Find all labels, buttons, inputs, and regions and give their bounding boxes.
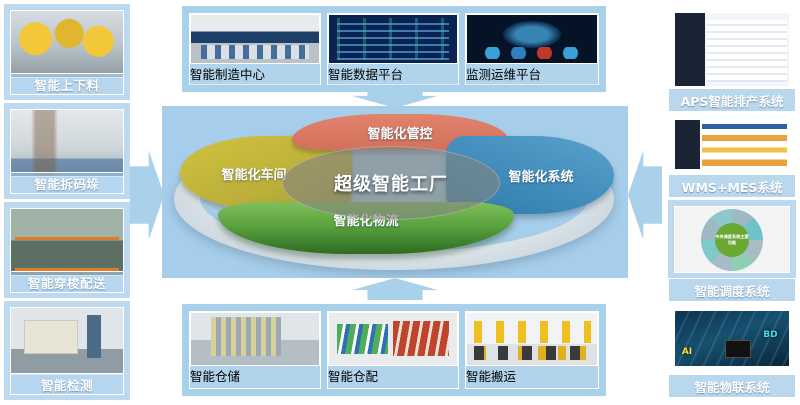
card-label-dispatch: 智能调度系统 [668,278,796,302]
arrow-left-to-center-icon [130,150,164,240]
iot-network-photo: AI BD [674,310,790,367]
sorting-distribution-photo [328,312,458,366]
dispatch-ring-outer: 中央调度系统主要功能 [701,209,763,271]
dispatch-ring-center-label: 中央调度系统主要功能 [715,223,749,257]
arrow-bottom-to-center-icon [352,278,438,300]
card-label: 智能搬运 [466,366,598,387]
card-smart-distribution[interactable]: 智能仓配 [327,311,459,389]
forklift-fleet-photo [466,312,598,366]
agv-shuttle-photo [10,208,124,276]
card-smart-palletizing[interactable]: 智能拆码垛 [4,103,130,199]
card-smart-inspection[interactable]: 智能检测 [4,301,130,400]
aps-screen [674,12,790,87]
card-label-iot: 智能物联系统 [668,374,796,398]
card-aps-system-thumb[interactable] [668,6,796,92]
card-label: 智能上下料 [10,73,124,95]
bd-badge: BD [763,330,777,340]
data-dashboard-photo [328,14,458,64]
card-label: 智能数据平台 [328,64,458,85]
automated-warehouse-photo [190,312,320,366]
card-smart-loading[interactable]: 智能上下料 [4,4,130,100]
card-monitoring-ops-platform[interactable]: 监测运维平台 [465,13,599,85]
dispatch-ring-diagram: 中央调度系统主要功能 [674,206,790,273]
card-label: 智能仓配 [328,366,458,387]
top-platform-group: 智能制造中心 智能数据平台 监测运维平台 [182,6,606,92]
arrow-right-to-center-icon [628,150,662,240]
ai-badge: AI [682,347,692,357]
card-label-wms-mes: WMS+MES系统 [668,174,796,198]
core-label: 超级智能工厂 [282,146,500,220]
card-label: 智能制造中心 [190,64,320,85]
palletizing-robot-photo [10,109,124,177]
card-smart-manufacturing-center[interactable]: 智能制造中心 [189,13,321,85]
bottom-logistics-group: 智能仓储 智能仓配 智能搬运 [182,304,606,396]
control-room-photo [190,14,320,64]
chip-icon [725,340,751,358]
card-dispatch-system-thumb[interactable]: 中央调度系统主要功能 [668,200,796,278]
center-stage: 智能化车间 智能化管控 智能化系统 智能化物流 超级智能工厂 [162,106,628,278]
industrial-robot-arms-photo [10,10,124,78]
card-smart-shuttle-delivery[interactable]: 智能穿梭配送 [4,202,130,298]
wms-mes-screen [674,119,790,170]
monitoring-dashboard-photo [466,14,598,64]
card-smart-data-platform[interactable]: 智能数据平台 [327,13,459,85]
card-label: 监测运维平台 [466,64,598,85]
card-label: 智能仓储 [190,366,320,387]
inspection-station-photo [10,307,124,375]
card-wms-mes-thumb[interactable] [668,113,796,175]
card-label-aps: APS智能排产系统 [668,88,796,112]
card-smart-handling[interactable]: 智能搬运 [465,311,599,389]
card-label: 智能检测 [10,373,124,395]
smart-factory-diagram: 智能上下料 智能拆码垛 智能穿梭配送 智能检测 智能制造中心 智能数据平台 监测… [0,0,800,405]
card-label: 智能拆码垛 [10,172,124,194]
card-iot-system-thumb[interactable]: AI BD [668,304,796,372]
card-smart-warehousing[interactable]: 智能仓储 [189,311,321,389]
card-label: 智能穿梭配送 [10,271,124,293]
left-capability-column: 智能上下料 智能拆码垛 智能穿梭配送 智能检测 [4,4,130,401]
